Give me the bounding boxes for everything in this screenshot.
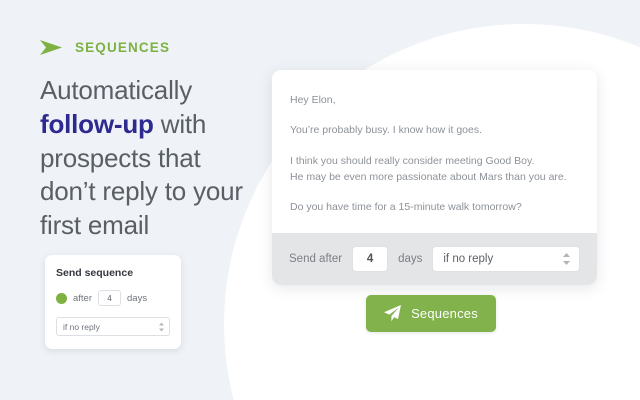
mini-after-label: after <box>73 293 92 304</box>
sequences-button-label: Sequences <box>411 306 478 321</box>
stepper-arrows-icon[interactable] <box>563 253 570 265</box>
intro-column: SEQUENCES Automatically follow-up with p… <box>40 36 270 260</box>
headline-line-2-rest: with <box>154 109 206 139</box>
play-arrow-icon <box>40 40 62 55</box>
days-number-input[interactable]: 4 <box>352 246 388 272</box>
email-preview-card: Hey Elon, You’re probably busy. I know h… <box>272 70 597 285</box>
mini-condition-select[interactable]: if no reply <box>56 317 170 336</box>
days-unit-label: days <box>398 253 422 265</box>
mini-card-delay-row: after 4 days <box>56 290 170 306</box>
mini-card-title: Send sequence <box>56 267 170 279</box>
email-line: Do you have time for a 15-minute walk to… <box>290 199 579 215</box>
email-line: He may be even more passionate about Mar… <box>290 169 579 185</box>
email-schedule-footer: Send after 4 days if no reply <box>272 233 597 285</box>
green-status-dot <box>56 293 67 304</box>
email-line: Hey Elon, <box>290 92 579 108</box>
send-after-label: Send after <box>289 253 342 265</box>
email-body: Hey Elon, You’re probably busy. I know h… <box>272 70 597 233</box>
headline-line-5: first email <box>40 210 149 240</box>
paper-plane-icon <box>384 305 401 322</box>
sequences-button[interactable]: Sequences <box>366 295 496 332</box>
mini-days-label: days <box>127 293 147 304</box>
headline-accent: follow-up <box>40 109 154 139</box>
headline-line-1: Automatically <box>40 75 192 105</box>
section-eyebrow-label: SEQUENCES <box>75 40 170 55</box>
mini-days-input[interactable]: 4 <box>98 290 121 306</box>
page-title: Automatically follow-up with prospects t… <box>40 74 270 243</box>
stepper-arrows-icon[interactable] <box>159 322 164 331</box>
email-line: I think you should really consider meeti… <box>290 153 579 169</box>
mini-condition-value: if no reply <box>63 322 100 332</box>
condition-select-value: if no reply <box>443 253 493 265</box>
send-sequence-mini-card: Send sequence after 4 days if no reply <box>45 255 181 349</box>
condition-select[interactable]: if no reply <box>432 246 580 272</box>
email-line: You’re probably busy. I know how it goes… <box>290 122 579 138</box>
section-eyebrow: SEQUENCES <box>40 36 270 58</box>
page-root: SEQUENCES Automatically follow-up with p… <box>0 0 640 400</box>
headline-line-4: don’t reply to your <box>40 176 243 206</box>
headline-line-3: prospects that <box>40 143 201 173</box>
